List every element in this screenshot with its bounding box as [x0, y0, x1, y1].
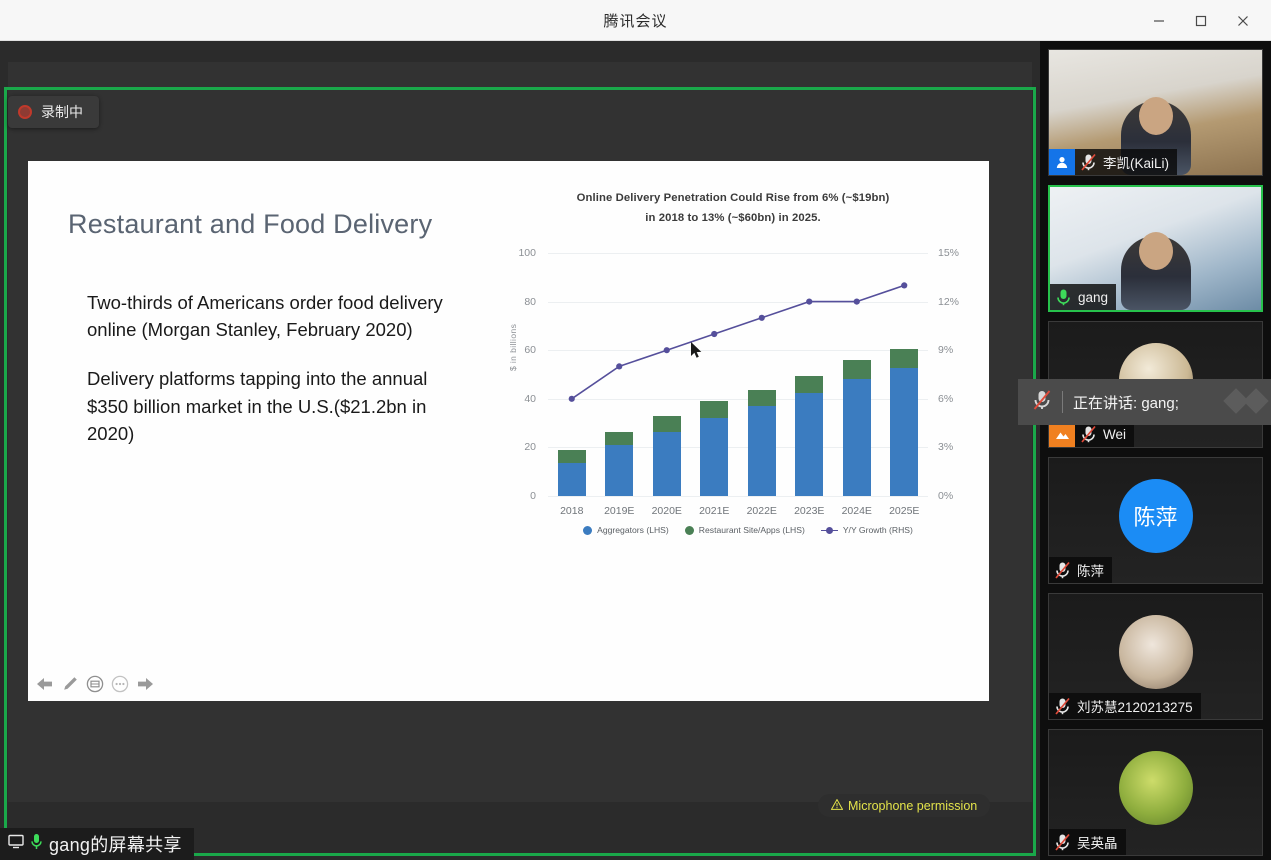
chart-x-tick: 2025E — [874, 505, 934, 517]
chart-y-tick: 20 — [524, 441, 536, 453]
avatar — [1119, 751, 1193, 825]
chart-gridline — [548, 496, 928, 497]
chart: Online Delivery Penetration Could Rise f… — [498, 175, 968, 675]
microphone-muted-icon — [1049, 557, 1075, 583]
microphone-permission-toast[interactable]: Microphone permission — [818, 794, 990, 817]
microphone-muted-icon — [1032, 389, 1052, 416]
chart-growth-line — [548, 253, 928, 496]
chart-y-tick: 100 — [518, 247, 536, 259]
more-options-icon[interactable] — [109, 673, 131, 695]
microphone-permission-label: Microphone permission — [848, 799, 977, 813]
participant-tile[interactable]: 吴英晶 — [1048, 729, 1263, 856]
record-dot-icon — [18, 105, 32, 119]
title-bar: 腾讯会议 — [0, 0, 1271, 41]
chart-y-tick: 40 — [524, 393, 536, 405]
participant-badges: gang — [1050, 284, 1116, 310]
legend-swatch-icon — [685, 526, 694, 535]
microphone-muted-icon — [1075, 149, 1101, 175]
chart-title-line2: in 2018 to 13% (~$60bn) in 2025. — [645, 212, 821, 224]
chart-y-tick: 80 — [524, 296, 536, 308]
pen-annotate-icon[interactable] — [59, 673, 81, 695]
legend-item-restaurant-sites: Restaurant Site/Apps (LHS) — [685, 525, 805, 535]
participant-name: 李凯(KaiLi) — [1101, 152, 1177, 172]
recording-label: 录制中 — [41, 102, 83, 122]
slide-title: Restaurant and Food Delivery — [68, 209, 432, 240]
participant-tile[interactable]: 刘苏慧2120213275 — [1048, 593, 1263, 720]
participant-name: 刘苏慧2120213275 — [1075, 696, 1201, 716]
meeting-window: 腾讯会议 录制中 Restaurant and Food Delivery — [0, 0, 1271, 860]
participant-name: 陈萍 — [1075, 560, 1112, 580]
slide-body: Two-thirds of Americans order food deliv… — [87, 289, 467, 447]
window-controls — [1139, 0, 1263, 41]
participant-badges: 陈萍 — [1049, 557, 1112, 583]
recording-indicator: 录制中 — [8, 96, 99, 128]
legend-label: Y/Y Growth (RHS) — [843, 525, 913, 535]
minimize-icon[interactable] — [1139, 4, 1179, 38]
host-badge-icon — [1049, 149, 1075, 175]
next-slide-icon[interactable] — [134, 673, 156, 695]
chart-title-line1: Online Delivery Penetration Could Rise f… — [577, 192, 890, 204]
participant-name: 吴英晶 — [1075, 832, 1126, 852]
chart-title: Online Delivery Penetration Could Rise f… — [518, 189, 948, 229]
chart-y2-tick: 9% — [938, 344, 953, 356]
monitor-icon — [8, 834, 24, 854]
previous-slide-icon[interactable] — [34, 673, 56, 695]
overlay-divider — [1062, 391, 1063, 413]
participant-name: Wei — [1101, 427, 1134, 442]
chart-y-axis-label: $ in billions — [508, 324, 518, 371]
avatar — [1119, 615, 1193, 689]
active-speaker-label: 正在讲话: gang; — [1073, 392, 1179, 413]
active-speaker-overlay: 正在讲话: gang; — [1018, 379, 1271, 425]
mouse-cursor-icon — [691, 342, 703, 365]
slide-paragraph-1: Two-thirds of Americans order food deliv… — [87, 289, 467, 343]
legend-line-icon — [821, 526, 838, 535]
chart-y2-tick: 15% — [938, 247, 959, 259]
participant-silhouette — [1121, 236, 1191, 310]
legend-item-yy-growth: Y/Y Growth (RHS) — [821, 525, 913, 535]
window-title: 腾讯会议 — [603, 10, 667, 31]
chart-plot-area: $ in billions 0204060801000%3%6%9%12%15%… — [548, 253, 928, 496]
presentation-view-icon[interactable] — [84, 673, 106, 695]
chart-y2-tick: 12% — [938, 296, 959, 308]
participant-badges: 李凯(KaiLi) — [1049, 149, 1177, 175]
microphone-muted-icon — [1049, 829, 1075, 855]
avatar: 陈萍 — [1119, 479, 1193, 553]
chart-y2-tick: 3% — [938, 441, 953, 453]
participant-rail[interactable]: 李凯(KaiLi)gangWei陈萍陈萍刘苏慧2120213275吴英晶 — [1040, 41, 1271, 860]
participant-badges: 吴英晶 — [1049, 829, 1126, 855]
screen-share-label: gang的屏幕共享 — [49, 831, 182, 857]
microphone-active-icon — [1050, 284, 1076, 310]
presentation-slide: Restaurant and Food Delivery Two-thirds … — [28, 161, 989, 701]
legend-label: Restaurant Site/Apps (LHS) — [699, 525, 805, 535]
slide-paragraph-2: Delivery platforms tapping into the annu… — [87, 365, 467, 447]
chart-legend: Aggregators (LHS) Restaurant Site/Apps (… — [558, 525, 938, 535]
slide-annotation-toolbar[interactable] — [34, 673, 156, 695]
overlay-decoration — [1227, 387, 1265, 410]
screen-share-status-bar: gang的屏幕共享 — [0, 828, 194, 860]
participant-badges: 刘苏慧2120213275 — [1049, 693, 1201, 719]
chart-y2-tick: 6% — [938, 393, 953, 405]
legend-label: Aggregators (LHS) — [597, 525, 669, 535]
shared-screen-stage: 录制中 Restaurant and Food Delivery Two-thi… — [0, 41, 1040, 860]
participant-tile[interactable]: 李凯(KaiLi) — [1048, 49, 1263, 176]
chart-y-tick: 60 — [524, 344, 536, 356]
legend-swatch-icon — [583, 526, 592, 535]
maximize-icon[interactable] — [1181, 4, 1221, 38]
legend-item-aggregators: Aggregators (LHS) — [583, 525, 669, 535]
participant-name: gang — [1076, 290, 1116, 305]
chart-y-tick: 0 — [530, 490, 536, 502]
chart-y2-tick: 0% — [938, 490, 953, 502]
participant-tile[interactable]: 陈萍陈萍 — [1048, 457, 1263, 584]
microphone-muted-icon — [1049, 693, 1075, 719]
microphone-active-icon — [30, 833, 43, 855]
close-icon[interactable] — [1223, 4, 1263, 38]
participant-tile[interactable]: gang — [1048, 185, 1263, 312]
warning-icon — [831, 797, 843, 815]
